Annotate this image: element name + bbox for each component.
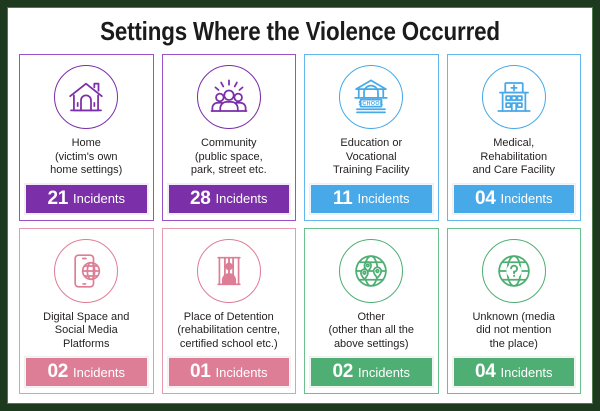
icon-circle-community bbox=[197, 65, 261, 129]
incident-count-banner-home: 21Incidents bbox=[25, 184, 148, 214]
house-icon bbox=[66, 77, 106, 117]
incident-count-number: 02 bbox=[332, 361, 353, 383]
incident-count-word: Incidents bbox=[501, 365, 553, 380]
incident-count-number: 11 bbox=[333, 188, 353, 210]
incident-count-banner-community: 28Incidents bbox=[168, 184, 291, 214]
incident-count-number: 04 bbox=[475, 361, 496, 383]
icon-circle-medical bbox=[482, 65, 546, 129]
setting-card-home[interactable]: Home (victim's own home settings)21Incid… bbox=[19, 54, 154, 221]
incident-count-number: 01 bbox=[190, 361, 211, 383]
setting-card-other[interactable]: Other (other than all the above settings… bbox=[304, 228, 439, 395]
incident-count-word: Incidents bbox=[501, 191, 553, 206]
people-group-icon bbox=[208, 76, 250, 118]
setting-card-label: Place of Detention (rehabilitation centr… bbox=[176, 303, 281, 358]
setting-card-label: Digital Space and Social Media Platforms bbox=[42, 303, 130, 358]
setting-card-community[interactable]: Community (public space, park, street et… bbox=[162, 54, 297, 221]
icon-circle-other bbox=[339, 239, 403, 303]
hospital-building-icon bbox=[493, 76, 535, 118]
incident-count-word: Incidents bbox=[216, 191, 268, 206]
incident-count-banner-medical: 04Incidents bbox=[453, 184, 576, 214]
phone-globe-icon bbox=[66, 251, 106, 291]
globe-question-mark-icon bbox=[493, 250, 535, 292]
incident-count-word: Incidents bbox=[73, 191, 125, 206]
incident-count-word: Incidents bbox=[357, 191, 409, 206]
incident-count-number: 28 bbox=[190, 188, 211, 210]
infographic-frame: Settings Where the Violence Occurred Hom… bbox=[0, 0, 600, 411]
incident-count-number: 21 bbox=[47, 188, 68, 210]
icon-circle-detention bbox=[197, 239, 261, 303]
incident-count-word: Incidents bbox=[358, 365, 410, 380]
setting-card-detention[interactable]: Place of Detention (rehabilitation centr… bbox=[162, 228, 297, 395]
incident-count-number: 04 bbox=[475, 188, 496, 210]
icon-circle-education: SCHOOL bbox=[339, 65, 403, 129]
incident-count-banner-detention: 01Incidents bbox=[168, 357, 291, 387]
incident-count-word: Incidents bbox=[216, 365, 268, 380]
setting-card-label: Education or Vocational Training Facilit… bbox=[332, 129, 411, 184]
poster-canvas: Settings Where the Violence Occurred Hom… bbox=[7, 7, 593, 404]
setting-card-label: Unknown (media did not mention the place… bbox=[471, 303, 556, 358]
setting-card-unknown[interactable]: Unknown (media did not mention the place… bbox=[447, 228, 582, 395]
globe-location-pins-icon bbox=[350, 250, 392, 292]
page-title: Settings Where the Violence Occurred bbox=[58, 15, 541, 47]
incident-count-word: Incidents bbox=[73, 365, 125, 380]
setting-card-label: Home (victim's own home settings) bbox=[49, 129, 123, 184]
settings-cards-grid: Home (victim's own home settings)21Incid… bbox=[19, 54, 581, 394]
incident-count-banner-unknown: 04Incidents bbox=[453, 357, 576, 387]
school-building-icon: SCHOOL bbox=[350, 76, 392, 118]
incident-count-banner-other: 02Incidents bbox=[310, 357, 433, 387]
setting-card-medical[interactable]: Medical, Rehabilitation and Care Facilit… bbox=[447, 54, 582, 221]
icon-circle-home bbox=[54, 65, 118, 129]
icon-circle-digital-space bbox=[54, 239, 118, 303]
setting-card-digital-space[interactable]: Digital Space and Social Media Platforms… bbox=[19, 228, 154, 395]
setting-card-label: Other (other than all the above settings… bbox=[327, 303, 415, 358]
incident-count-number: 02 bbox=[47, 361, 68, 383]
setting-card-label: Medical, Rehabilitation and Care Facilit… bbox=[471, 129, 556, 184]
incident-count-banner-digital-space: 02Incidents bbox=[25, 357, 148, 387]
svg-text:SCHOOL: SCHOOL bbox=[359, 101, 384, 107]
setting-card-label: Community (public space, park, street et… bbox=[190, 129, 268, 184]
incident-count-banner-education: 11Incidents bbox=[310, 184, 433, 214]
icon-circle-unknown bbox=[482, 239, 546, 303]
setting-card-education[interactable]: SCHOOL Education or Vocational Training … bbox=[304, 54, 439, 221]
prison-bars-person-icon bbox=[209, 251, 249, 291]
